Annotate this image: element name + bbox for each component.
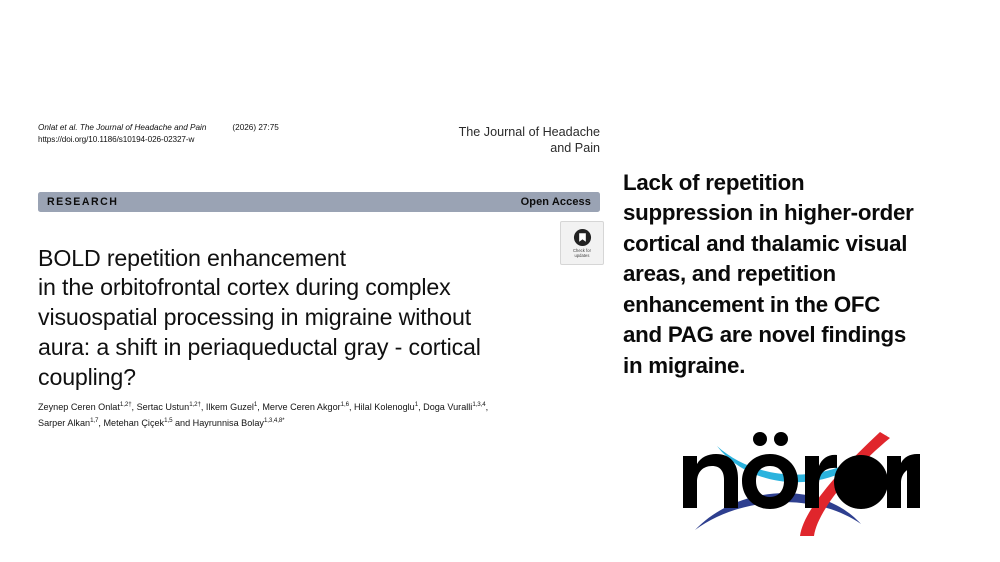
- citation-volume-issue: (2026) 27:75: [232, 122, 278, 134]
- author-name: Merve Ceren Akgor: [262, 402, 340, 412]
- article-header: Onlat et al. The Journal of Headache and…: [38, 122, 600, 156]
- author-name: Sertac Ustun: [137, 402, 190, 412]
- journal-name-line-1: The Journal of Headache: [459, 124, 600, 140]
- citation-block: Onlat et al. The Journal of Headache and…: [38, 122, 279, 146]
- highlight-line-5: enhancement in the OFC: [623, 290, 975, 320]
- journal-name-line-2: and Pain: [459, 140, 600, 156]
- author-line-2: Sarper Alkan1,7, Metehan Çiçek1,5 and Ha…: [38, 416, 583, 432]
- author-name: Doga Vuralli: [423, 402, 472, 412]
- article-title-line-5: coupling?: [38, 363, 558, 393]
- author-list: Zeynep Ceren Onlat1,2†, Sertac Ustun1,2†…: [38, 400, 583, 431]
- highlight-line-2: suppression in higher-order: [623, 198, 975, 228]
- section-type-label: RESEARCH: [47, 196, 118, 208]
- crossmark-check-for-updates-badge[interactable]: Check for updates: [560, 221, 604, 265]
- article-title-line-3: visuospatial processing in migraine with…: [38, 303, 558, 333]
- author-affiliation-marker: 1,6: [341, 401, 349, 408]
- citation-reference-line: Onlat et al. The Journal of Headache and…: [38, 122, 279, 134]
- author-name: Hilal Kolenoglu: [354, 402, 415, 412]
- author-affiliation-marker: 1,5: [164, 417, 172, 424]
- author-affiliation-marker: 1: [254, 401, 257, 408]
- author-line-1: Zeynep Ceren Onlat1,2†, Sertac Ustun1,2†…: [38, 400, 583, 416]
- author-name: Hayrunnisa Bolay: [193, 418, 264, 428]
- author-affiliation-marker: 1: [415, 401, 418, 408]
- author-affiliation-marker: 1,7: [90, 417, 98, 424]
- citation-doi-link[interactable]: https://doi.org/10.1186/s10194-026-02327…: [38, 134, 279, 146]
- author-affiliation-marker: 1,2†: [120, 401, 132, 408]
- author-name: Metehan Çiçek: [103, 418, 164, 428]
- article-first-page: Onlat et al. The Journal of Headache and…: [0, 0, 615, 562]
- highlight-line-3: cortical and thalamic visual: [623, 229, 975, 259]
- author-affiliation-marker: 1,3,4,8*: [264, 417, 285, 424]
- article-title: BOLD repetition enhancement in the orbit…: [38, 244, 558, 394]
- highlight-line-7: in migraine.: [623, 351, 975, 381]
- article-title-line-2: in the orbitofrontal cortex during compl…: [38, 273, 558, 303]
- crossmark-label: Check for updates: [573, 249, 591, 259]
- crossmark-label-line-2: updates: [573, 254, 591, 259]
- author-affiliation-marker: 1,3,4: [472, 401, 485, 408]
- article-title-line-4: aura: a shift in periaqueductal gray - c…: [38, 333, 558, 363]
- highlight-line-4: areas, and repetition: [623, 259, 975, 289]
- crossmark-icon: [573, 228, 592, 247]
- author-affiliation-marker: 1,2†: [189, 401, 201, 408]
- highlight-statement: Lack of repetitionsuppression in higher-…: [623, 168, 975, 381]
- logo-wordmark-m-tail: [907, 466, 920, 508]
- author-name: Zeynep Ceren Onlat: [38, 402, 120, 412]
- research-open-access-bar: RESEARCH Open Access: [38, 192, 600, 212]
- citation-authors-journal: Onlat et al. The Journal of Headache and…: [38, 123, 206, 132]
- norom-logo: [675, 408, 920, 536]
- highlight-line-6: and PAG are novel findings: [623, 320, 975, 350]
- author-name: Ilkem Guzel: [206, 402, 254, 412]
- article-title-line-1: BOLD repetition enhancement: [38, 244, 558, 274]
- highlight-panel: Lack of repetitionsuppression in higher-…: [615, 0, 1000, 562]
- author-name: Sarper Alkan: [38, 418, 90, 428]
- open-access-label[interactable]: Open Access: [521, 196, 591, 208]
- highlight-line-1: Lack of repetition: [623, 168, 975, 198]
- journal-name: The Journal of Headache and Pain: [459, 124, 600, 156]
